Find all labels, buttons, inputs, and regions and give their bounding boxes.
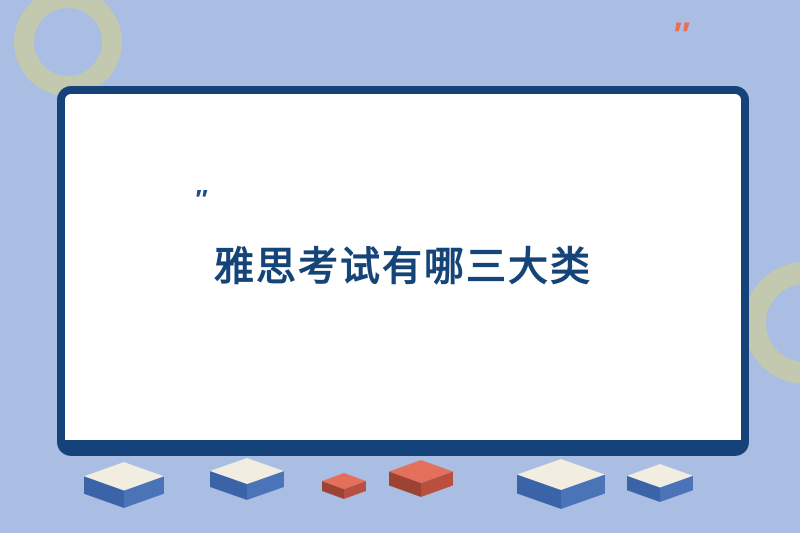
slab-red-2 xyxy=(389,460,453,497)
slab-blue-3 xyxy=(517,459,605,509)
page-title: 雅思考试有哪三大类 xyxy=(65,234,741,292)
slab-red-1 xyxy=(322,473,366,499)
slab-blue-1 xyxy=(84,462,164,508)
content-card-body: ″ 雅思考试有哪三大类 xyxy=(65,94,741,440)
decorative-ring-left xyxy=(14,0,122,96)
quote-mark-outer-icon: ″ xyxy=(672,18,687,52)
slide-canvas: ″ ″ 雅思考试有哪三大类 xyxy=(0,0,800,533)
quote-mark-inner-icon: ″ xyxy=(194,186,205,212)
slab-blue-4 xyxy=(627,464,693,502)
decorative-ring-right xyxy=(744,262,800,384)
slab-blue-2 xyxy=(210,458,284,500)
content-card: ″ 雅思考试有哪三大类 xyxy=(57,86,749,456)
